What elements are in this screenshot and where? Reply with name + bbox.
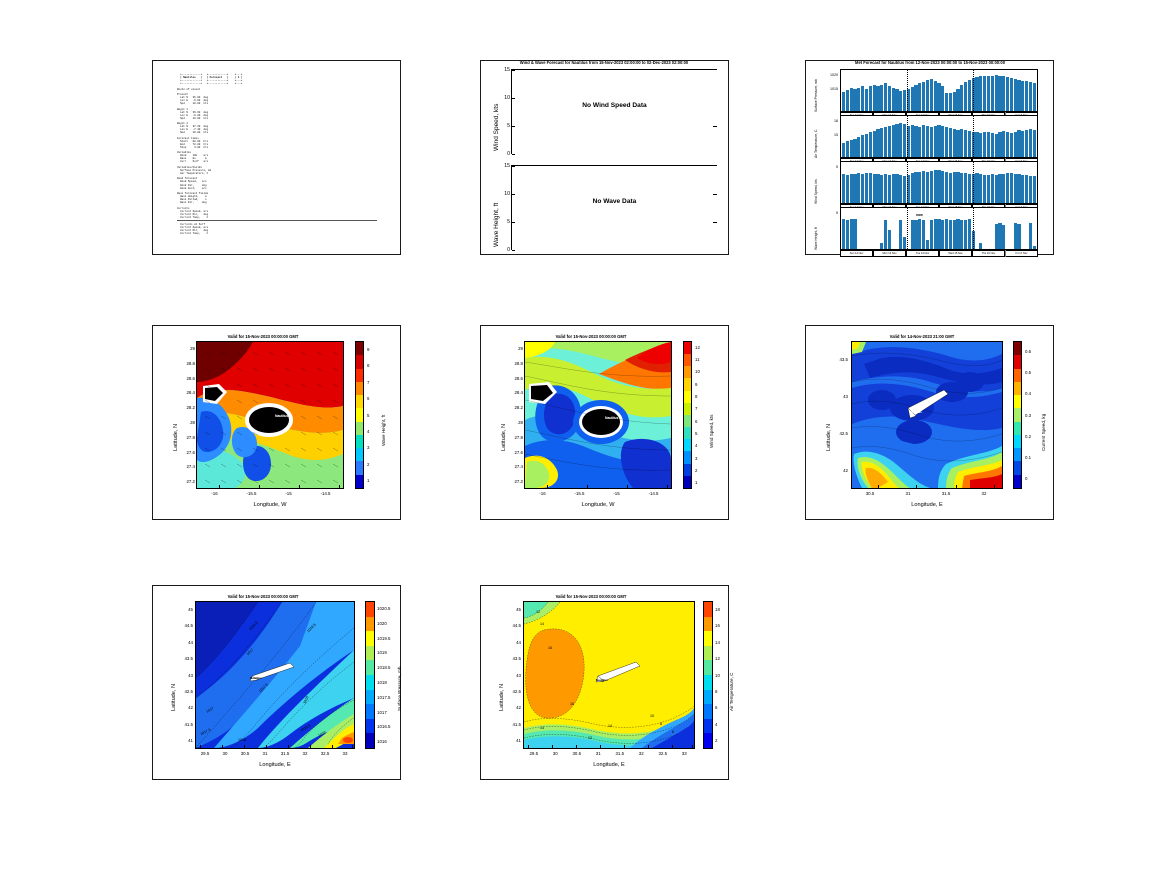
wind-speed-bars [840,161,1038,204]
day-separator [973,70,974,111]
map-ytick: 41 [505,738,521,743]
bar [991,133,994,157]
bar [895,124,898,157]
panel-wave-height-map: Valid for 15-Nov-2023 00:00:00 GMT [152,325,401,520]
panel-current-speed-map: Valid for 14-Nov-2023 21:00 GMT [805,325,1054,520]
colorbar-tick: 6 [367,396,369,401]
bar [884,127,887,157]
airtemp-map-axes: 12 14 16 16 14 12 14 10 8 6 Nautilus [523,601,695,749]
bar [1017,224,1020,249]
wave-ytick-0: 0 [496,247,510,253]
bar [930,220,933,249]
bar [983,76,986,111]
report-page: +------------+ +------------+ +---+ | Na… [0,0,1167,875]
wind-ytick-0: 0 [496,151,510,157]
bar [949,128,952,157]
bar [899,91,902,112]
panel8-colorbar-label: Air Temperature, C [729,673,734,711]
map-ytick: 27.4 [507,464,523,469]
colorbar-segment [356,461,363,474]
map-xtick: -15 [603,491,631,496]
colorbar-segment [1014,475,1021,488]
map-ytick: 43 [505,673,521,678]
colorbar-segment [684,403,691,415]
bar [918,219,921,249]
bar-series [841,162,1037,203]
map-ytick: 27.6 [179,450,195,455]
map-xtick: 32 [970,491,998,496]
colorbar-tick: 1020 [377,621,387,626]
no-wave-message: No Wave Data [512,198,717,205]
wave-height-ylabel: Wave Height, ft [493,203,500,247]
bar [1014,223,1017,249]
colorbar-segment [704,675,712,690]
map-xtick: -16 [201,491,229,496]
bar [949,173,952,203]
bar [1010,78,1013,111]
bar [1006,132,1009,157]
bar [1033,176,1036,203]
bar [1002,131,1005,157]
map-ytick: 42 [832,468,848,473]
bar-series [841,116,1037,157]
bar [918,172,921,203]
panel4-xlabel: Longitude, W [196,502,344,508]
day-separator [907,208,908,249]
map-ytick: 29 [179,346,195,351]
bar-ytick: 5 [818,211,838,215]
bar [918,127,921,157]
day-label: Fri 17 Nov [1005,250,1038,257]
colorbar-segment [704,690,712,705]
bar [1025,130,1028,157]
bar [937,125,940,157]
colorbar-tick: 18 [715,607,720,612]
day-separator [907,70,908,111]
bar-ylabel: Wave Height, ft [814,227,818,250]
bar [941,126,944,157]
bar [953,220,956,249]
map-ytick: 27.6 [507,450,523,455]
map-ytick: 43 [177,673,193,678]
vessel-marker-label-airtemp: Nautilus [596,678,608,682]
bar [914,172,917,203]
day-label: Sun 12 Nov [840,250,873,257]
panel-met-forecast: Met Forecast for Nautilus from 12-Nov-20… [805,60,1054,255]
colorbar-tick: 1017 [377,710,387,715]
map-ytick: 42 [505,705,521,710]
panel8-ylabel: Latitude, N [499,684,505,711]
bar [995,75,998,111]
day-label: Thu 16 Nov [972,250,1005,257]
panel8-colorbar [703,601,713,749]
bar [934,126,937,157]
day-label: Tue 14 Nov [906,250,939,257]
vessel-marker-label-current: Nautilus [910,410,922,414]
vessel-marker-label-wave: Nautilus [275,414,288,418]
colorbar-segment [356,448,363,461]
colorbar-segment [366,719,374,734]
bar [884,220,887,249]
airtemp-contour-label-5: 14 [540,726,544,730]
bar [861,135,864,157]
panel4-colorbar [355,341,364,489]
colorbar-segment [1014,355,1021,368]
colorbar-segment [684,354,691,366]
bar [865,134,868,157]
colorbar-segment [704,646,712,661]
bar [914,220,917,249]
bar-ylabel: Air Temperature, C [814,130,818,158]
bar-ytick: 1020 [818,73,838,77]
wind-speed-contours [525,342,671,488]
panel5-ylabel: Latitude, N [501,424,507,451]
map-ytick: 45 [505,607,521,612]
bar [888,126,891,157]
bar [998,132,1001,157]
colorbar-tick: 6 [695,419,697,424]
bar [880,128,883,157]
colorbar-tick: 16 [715,623,720,628]
bar [1029,223,1032,249]
colorbar-segment [356,435,363,448]
pressure-contour-label-10: 1018 [238,738,246,742]
colorbar-tick: 0.2 [1025,434,1031,439]
airtemp-contour-label-8: 10 [650,714,654,718]
bar [956,89,959,111]
map-ytick: 41.5 [505,722,521,727]
bar [903,237,906,249]
colorbar-segment [684,427,691,439]
bar [1014,174,1017,203]
bar [865,173,868,203]
bar [1025,175,1028,203]
bar [1029,129,1032,157]
bar [1033,130,1036,157]
colorbar-tick: 1017.5 [377,695,390,700]
map-xtick: -14.5 [312,491,340,496]
map-ytick: 44.5 [505,623,521,628]
map-xtick: -14.5 [640,491,668,496]
bar [960,173,963,203]
bar [873,85,876,111]
panel4-title: Valid for 15-Nov-2023 00:00:00 GMT [183,334,343,339]
bar [903,124,906,157]
airtemp-contour-label-7: 14 [608,724,612,728]
bar [857,137,860,157]
bar [853,174,856,203]
colorbar-tick: 6 [715,705,717,710]
bar [1006,173,1009,203]
colorbar-tick: 8 [367,363,369,368]
panel5-colorbar [683,341,692,489]
bar [937,83,940,111]
colorbar-tick: 7 [367,380,369,385]
panel4-ylabel: Latitude, N [173,424,179,451]
text-line: Current Temp, C [177,216,394,219]
bar [1010,173,1013,203]
bar [842,174,845,203]
bar [979,76,982,111]
bar [964,220,967,249]
colorbar-segment [684,439,691,451]
colorbar-segment [704,719,712,734]
bar [987,132,990,157]
wave-height-bars [840,207,1038,250]
panel5-colorbar-label: Wind Speed, kts [709,415,714,448]
colorbar-segment [366,675,374,690]
bar [941,86,944,111]
bar [918,83,921,111]
bar [1014,79,1017,111]
map-ytick: 42.5 [505,689,521,694]
panel5-title: Valid for 15-Nov-2023 00:00:00 GMT [511,334,671,339]
colorbar-tick: 10 [715,673,720,678]
map-xtick: 31 [894,491,922,496]
bar [914,85,917,111]
airtemp-contour-label-3: 16 [548,646,552,650]
bar [941,220,944,249]
bar [956,172,959,203]
bar [934,219,937,249]
colorbar-segment [1014,448,1021,461]
airtemp-contour-label-10: 6 [672,730,674,734]
bar [1017,174,1020,203]
panel-surface-pressure-map: Valid for 15-Nov-2023 00:00:00 GMT [152,585,401,780]
forecast-text-body: +------------+ +------------+ +---+ | Na… [177,73,394,250]
bar [930,171,933,203]
colorbar-segment [704,617,712,632]
map-ytick: 27.4 [179,464,195,469]
bar [930,79,933,111]
bar [983,175,986,203]
colorbar-segment [684,451,691,463]
map-ytick: 28.8 [507,361,523,366]
bar [922,220,925,249]
wave-height-contours [197,342,343,488]
bar [850,140,853,157]
pressure-map-axes: 1016.5 1017 1017.5 1018 1018.5 1019 1019… [195,601,355,749]
bar [842,219,845,249]
current-map-axes: Nautilus [851,341,1003,489]
colorbar-segment [1014,369,1021,382]
bar [926,172,929,203]
colorbar-segment [1014,461,1021,474]
colorbar-tick: 0.3 [1025,413,1031,418]
colorbar-tick: 4 [715,722,717,727]
colorbar-segment [684,391,691,403]
map-ytick: 42 [177,705,193,710]
panel6-colorbar-label: Current Speed, kg [1041,414,1046,451]
airtemp-contour-label-4: 16 [570,702,574,706]
bar [987,175,990,203]
colorbar-tick: 4 [367,429,369,434]
bar [960,129,963,157]
map-ytick: 27.8 [179,435,195,440]
bar [964,82,967,111]
airtemp-contour-label-1: 12 [536,610,540,614]
bar [968,131,971,157]
colorbar-segment [1014,422,1021,435]
colorbar-tick: 0 [1025,476,1027,481]
bar [888,86,891,111]
bar [899,123,902,157]
bar-series [841,70,1037,111]
bar [968,80,971,111]
bar [869,86,872,111]
colorbar-tick: 1019.5 [377,636,390,641]
map-ytick: 44.5 [177,623,193,628]
wave-ytick-15: 15 [496,163,510,169]
colorbar-tick: 12 [695,345,700,350]
wave-height-axes: No Wave Data 15 10 5 0 [511,165,717,250]
bar-ytick: 1015 [818,87,838,91]
vessel-marker-label-wind: Nautilus [605,416,618,420]
colorbar-segment [1014,382,1021,395]
bar [998,223,1001,249]
bar [995,134,998,157]
vessel-marker-label-pressure: Nautilus [250,676,262,680]
bar [876,174,879,203]
map-xtick: 31.5 [932,491,960,496]
bar [995,224,998,249]
panel3-title: Met Forecast for Nautilus from 12-Nov-20… [790,60,1070,65]
panel6-title: Valid for 14-Nov-2023 21:00 GMT [842,334,1002,339]
wind-ytick-10: 10 [496,95,510,101]
colorbar-segment [704,631,712,646]
bar [926,240,929,249]
map-ytick: 28.6 [179,376,195,381]
airtemp-contour-label-6: 12 [588,736,592,740]
colorbar-segment [704,660,712,675]
bar [998,76,1001,111]
bar [853,139,856,157]
colorbar-tick: 9 [695,382,697,387]
colorbar-segment [1014,435,1021,448]
bar [888,230,891,249]
bar [865,89,868,111]
bar [903,90,906,111]
map-xtick: -16 [529,491,557,496]
bar [937,170,940,203]
no-wind-speed-message: No Wind Speed Data [512,102,717,109]
day-separator [973,162,974,203]
bar [953,172,956,203]
colorbar-segment [684,366,691,378]
bar [922,82,925,111]
colorbar-segment [684,464,691,476]
bar-ytick: 5 [818,165,838,169]
colorbar-tick: 2 [367,462,369,467]
map-ytick: 28.4 [179,390,195,395]
bar [964,173,967,203]
map-ytick: 27.2 [179,479,195,484]
colorbar-tick: 10 [695,369,700,374]
colorbar-segment [366,631,374,646]
map-ytick: 41.5 [177,722,193,727]
panel8-title: Valid for 15-Nov-2023 00:00:00 GMT [511,594,671,599]
bar [964,130,967,157]
bar [842,143,845,157]
bar [846,220,849,249]
bar [857,88,860,111]
bar [911,173,914,203]
colorbar-tick: 0.1 [1025,455,1031,460]
bar [888,175,891,203]
map-ytick: 28 [179,420,195,425]
colorbar-tick: 9 [367,347,369,352]
bar [945,172,948,203]
colorbar-tick: 3 [367,445,369,450]
bar [926,80,929,111]
colorbar-tick: 3 [695,456,697,461]
bar [892,88,895,111]
colorbar-segment [1014,408,1021,421]
map-ytick: 27.8 [507,435,523,440]
colorbar-segment [1014,395,1021,408]
bar [884,83,887,111]
panel7-colorbar [365,601,375,749]
panel2-title: Wind & Wave Forecast for Nautilus from 1… [459,60,749,65]
bar [1017,80,1020,111]
airtemp-contour-label-2: 14 [540,622,544,626]
map-ytick: 28.6 [507,376,523,381]
bar [869,132,872,157]
bar [983,132,986,157]
colorbar-segment [704,602,712,617]
day-label: Wed 15 Nov [939,250,972,257]
day-separator [973,116,974,157]
bar [945,219,948,249]
colorbar-segment [356,395,363,408]
colorbar-tick: 4 [695,443,697,448]
text-line: Current Temp, C [177,232,394,235]
current-speed-contours [852,342,1002,488]
map-xtick: 33 [670,751,698,756]
colorbar-tick: 1016 [377,739,387,744]
colorbar-segment [684,415,691,427]
map-ytick: 41 [177,738,193,743]
colorbar-segment [704,733,712,748]
colorbar-tick: 2 [715,738,717,743]
colorbar-segment [366,617,374,632]
bar [880,85,883,111]
bar [979,243,982,249]
colorbar-tick: 0.6 [1025,349,1031,354]
map-ytick: 28 [507,420,523,425]
colorbar-segment [356,342,363,355]
bar [1021,175,1024,203]
bar [1033,83,1036,111]
panel7-colorbar-label: Surface Pressure, mb [397,667,402,711]
bar [934,170,937,203]
colorbar-tick: 8 [695,394,697,399]
bar [850,88,853,111]
map-ytick: 42.5 [177,689,193,694]
bar [892,125,895,157]
colorbar-segment [366,602,374,617]
bar [968,219,971,249]
bar [853,219,856,249]
bar [1010,133,1013,157]
bar [960,220,963,249]
text-divider [177,220,377,221]
wind-speed-ylabel: Wind Speed, kts [493,104,500,151]
bar [1017,130,1020,157]
map-ytick: 27.2 [507,479,523,484]
bar [998,174,1001,203]
map-ytick: 28.4 [507,390,523,395]
